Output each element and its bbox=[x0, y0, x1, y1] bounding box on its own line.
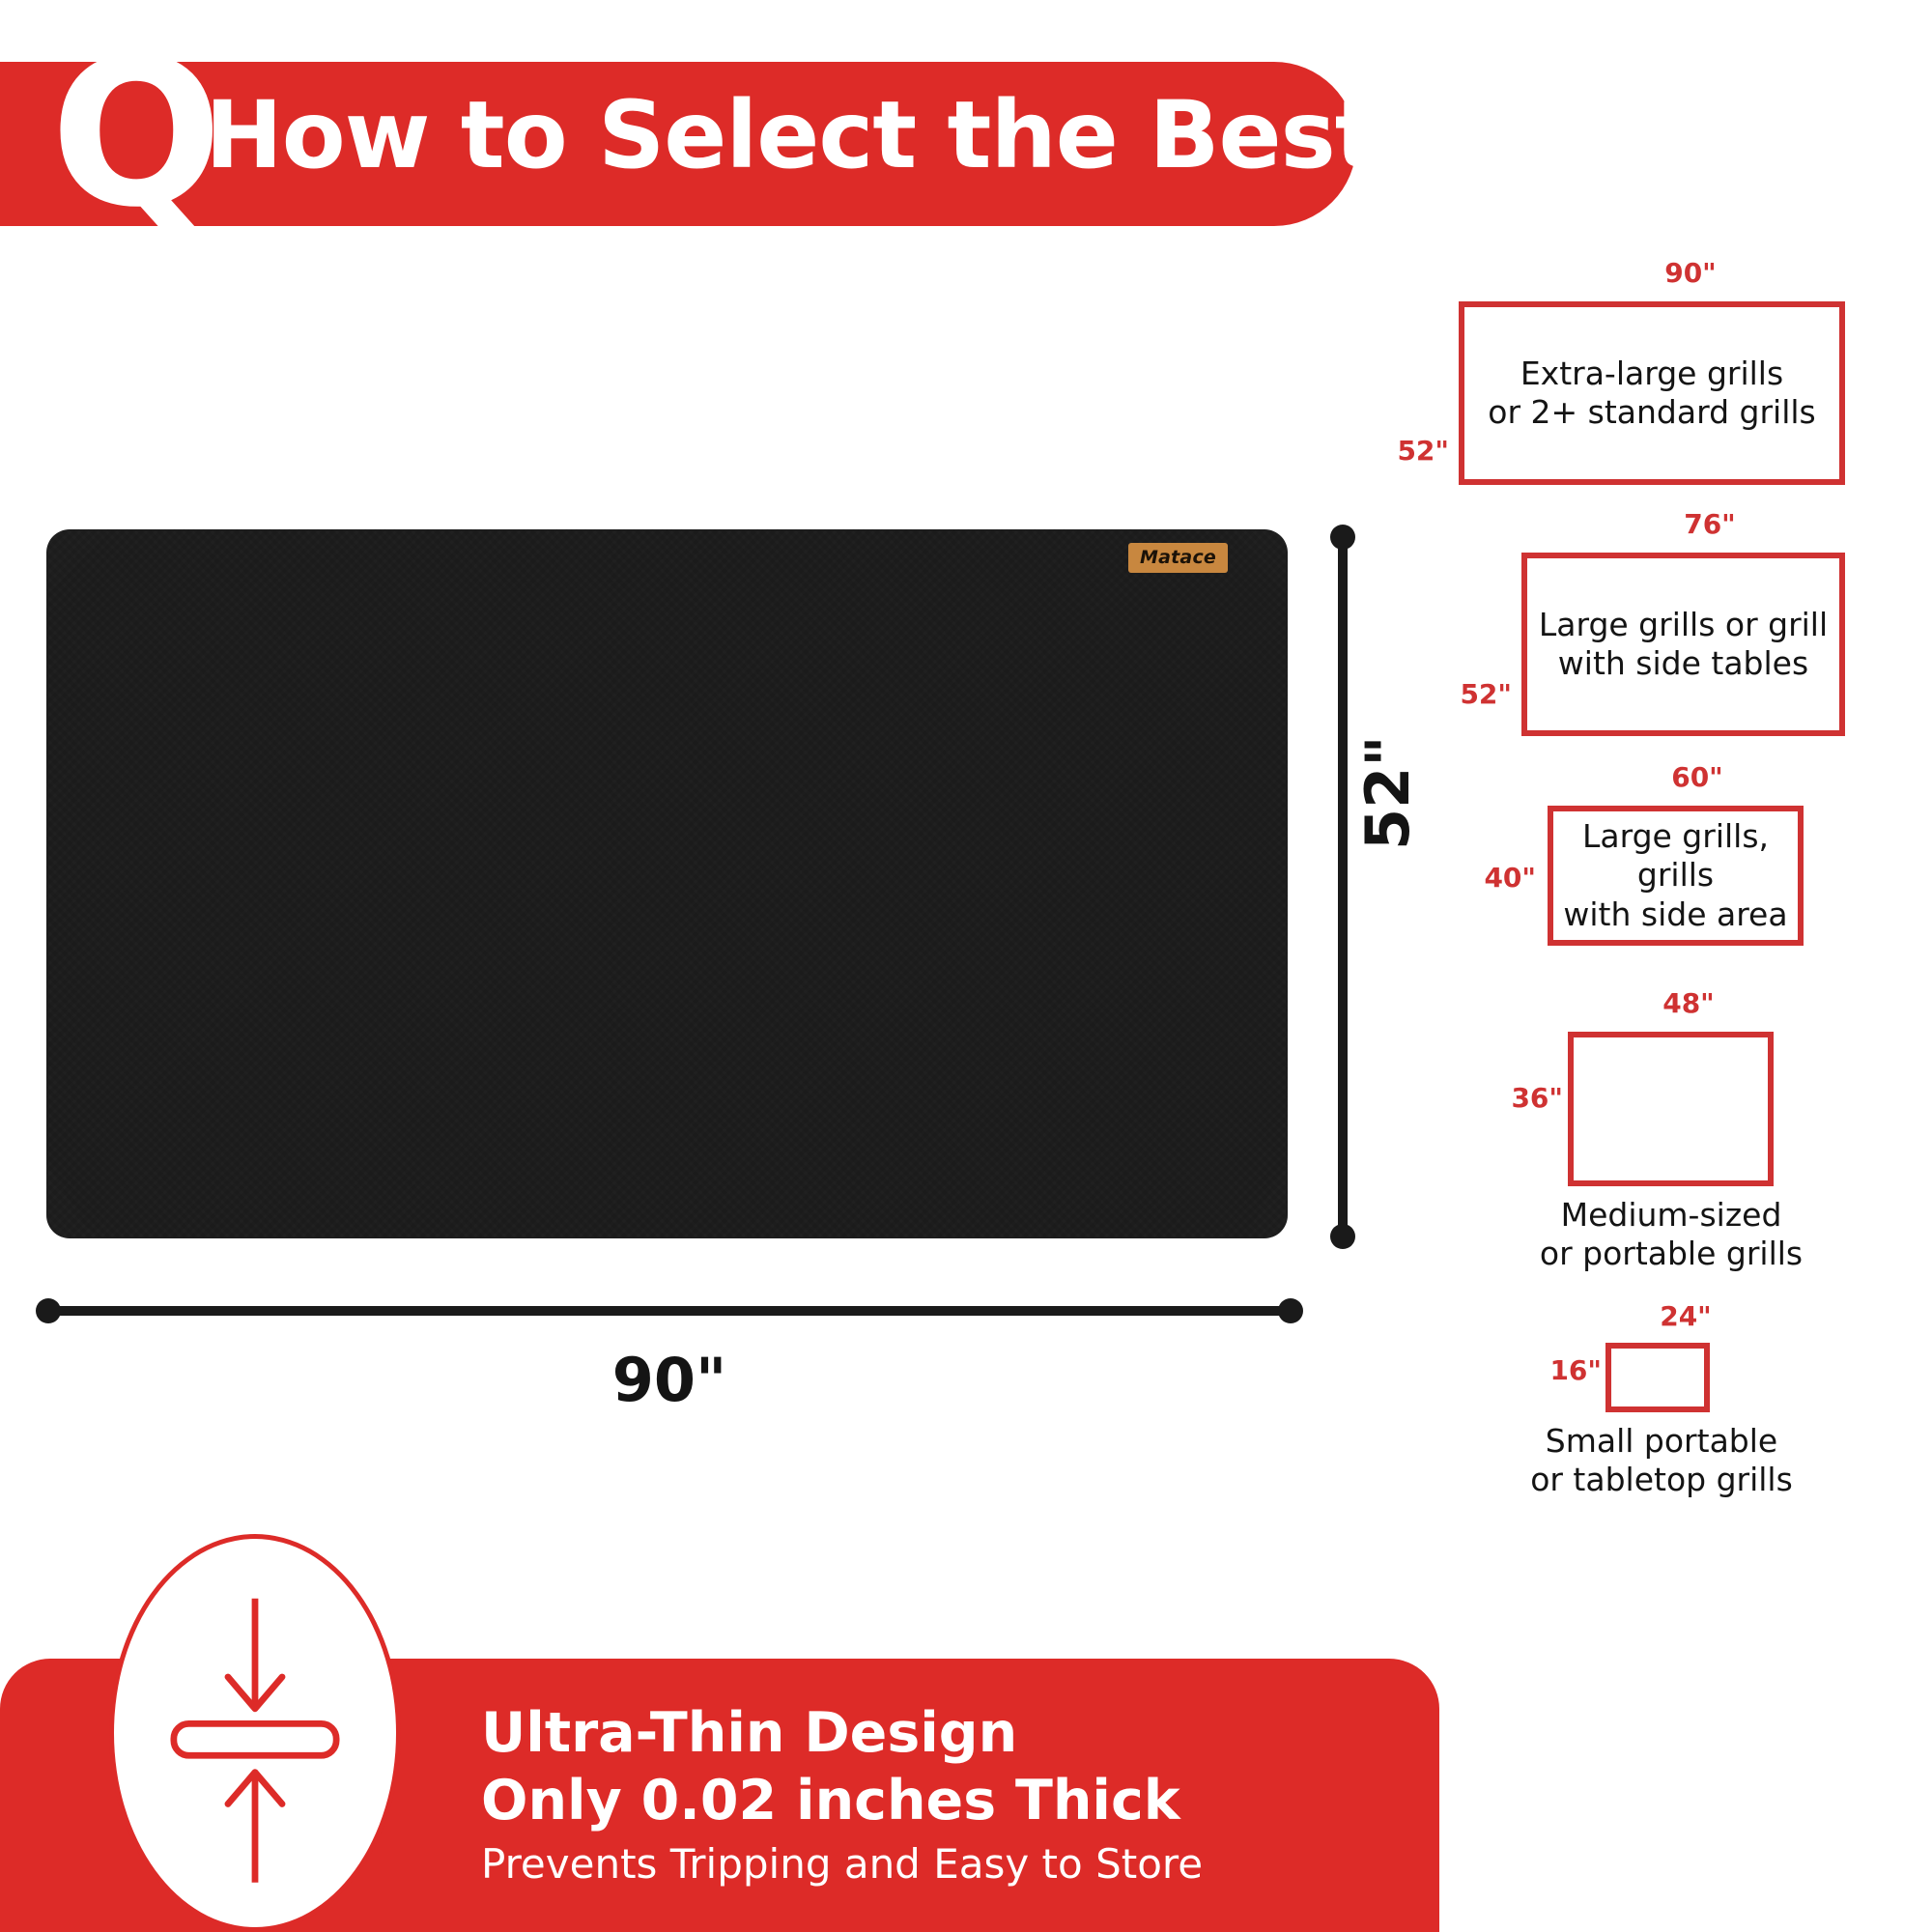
mat-height-dimension-line bbox=[1338, 537, 1348, 1236]
size-height-label: 52" bbox=[1323, 435, 1449, 467]
infographic-page: Q :How to Select the Best Size ? Matace … bbox=[0, 0, 1932, 1932]
size-width-label: 76" bbox=[1521, 508, 1898, 540]
callout-detail: Prevents Tripping and Easy to Store bbox=[481, 1838, 1203, 1891]
size-width-label: 90" bbox=[1459, 257, 1922, 289]
size-box: Large grills, grills with side area bbox=[1548, 806, 1804, 946]
size-height-label: 52" bbox=[1386, 678, 1512, 710]
size-description: Medium-sized or portable grills bbox=[1420, 1196, 1922, 1274]
size-description: Extra-large grills or 2+ standard grills bbox=[1478, 355, 1825, 433]
size-width-label: 60" bbox=[1548, 761, 1847, 793]
size-description: Large grills, grills with side area bbox=[1553, 817, 1798, 934]
size-description: Large grills or grill with side tables bbox=[1529, 606, 1837, 684]
size-box: Large grills or grill with side tables bbox=[1521, 553, 1845, 736]
thickness-compression-icon bbox=[109, 1534, 401, 1932]
callout-headline: Ultra-Thin Design bbox=[481, 1700, 1203, 1768]
size-width-label: 48" bbox=[1568, 987, 1809, 1019]
callout-subheadline: Only 0.02 inches Thick bbox=[481, 1768, 1203, 1835]
size-description: Small portable or tabletop grills bbox=[1410, 1422, 1913, 1500]
mat-width-label: 90" bbox=[0, 1345, 1339, 1415]
brand-logo-badge: Matace bbox=[1128, 543, 1228, 573]
size-options-column: 90" 52" Extra-large grills or 2+ standar… bbox=[1381, 319, 1922, 1913]
size-box bbox=[1605, 1343, 1710, 1412]
thickness-arrows-icon bbox=[114, 1539, 396, 1927]
size-height-label: 36" bbox=[1437, 1082, 1563, 1114]
size-height-label: 40" bbox=[1410, 862, 1536, 894]
size-width-label: 24" bbox=[1594, 1300, 1777, 1332]
size-box bbox=[1568, 1032, 1774, 1186]
page-title: :How to Select the Best Size ? bbox=[169, 89, 1705, 182]
mat-width-dimension-line bbox=[48, 1306, 1291, 1316]
product-mat: Matace bbox=[46, 529, 1288, 1238]
ultra-thin-callout-text: Ultra-Thin Design Only 0.02 inches Thick… bbox=[481, 1700, 1203, 1891]
size-height-label: 16" bbox=[1476, 1354, 1602, 1386]
size-box: Extra-large grills or 2+ standard grills bbox=[1459, 301, 1845, 485]
